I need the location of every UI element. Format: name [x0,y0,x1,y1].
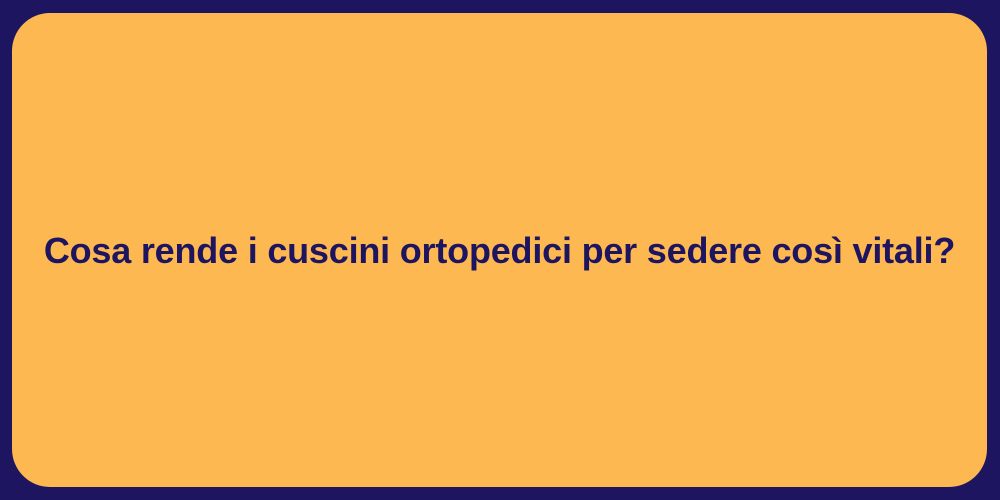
banner-card: Cosa rende i cuscini ortopedici per sede… [12,13,987,487]
banner-frame: Cosa rende i cuscini ortopedici per sede… [0,0,1000,500]
headline-text: Cosa rende i cuscini ortopedici per sede… [44,228,955,273]
